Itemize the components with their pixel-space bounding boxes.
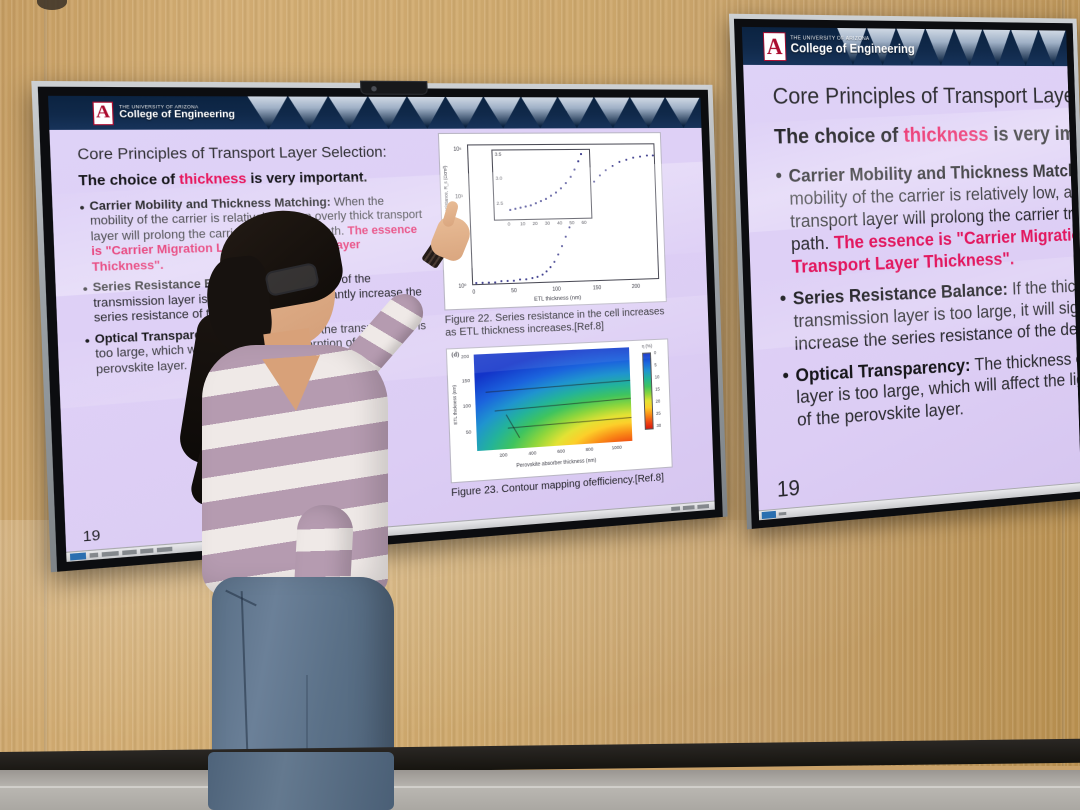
slide-subtitle: The choice of thickness is very importan… [78, 169, 422, 189]
bullet-text: Series Resistance Balance: If the thickn… [792, 271, 1080, 355]
subtitle-highlight: thickness [903, 124, 989, 147]
subtitle-suffix: is very important. [988, 122, 1080, 145]
figure-23-colorbar-tick: 5 [654, 362, 656, 367]
figure-23-colorbar-tick: 0 [654, 350, 656, 355]
bullet-item: • Optical Transparency: The thickness of… [782, 342, 1080, 433]
start-button[interactable] [762, 511, 776, 518]
figure-23-colorbar-tick: 25 [656, 411, 661, 416]
figure-23-colorbar-tick: 20 [656, 399, 661, 404]
start-button[interactable] [70, 553, 86, 561]
classroom-scene: A THE UNIVERSITY OF ARIZONA College of E… [0, 0, 1080, 810]
inset-xtick: 0 [508, 221, 511, 226]
taskbar-icon[interactable] [140, 549, 153, 554]
floor [0, 770, 1080, 810]
taskbar-icon[interactable] [157, 547, 173, 552]
taskbar-icon[interactable] [102, 551, 119, 556]
taskbar-icon[interactable] [779, 512, 787, 516]
slide-subtitle: The choice of thickness is very importan… [774, 122, 1080, 149]
figure-22-xtick: 150 [593, 285, 602, 291]
figure-22-ytick: 10⁵ [453, 147, 461, 153]
subtitle-prefix: The choice of [78, 172, 179, 189]
ua-banner: A THE UNIVERSITY OF ARIZONA College of E… [742, 27, 1067, 66]
ua-logo: A THE UNIVERSITY OF ARIZONA College of E… [92, 101, 235, 125]
display-right-screen[interactable]: A THE UNIVERSITY OF ARIZONA College of E… [742, 27, 1080, 520]
figure-22-xtick: 100 [552, 286, 561, 292]
bullet-dot-icon: • [79, 200, 87, 276]
ua-wordmark: THE UNIVERSITY OF ARIZONA College of Eng… [119, 105, 235, 121]
inset-xtick: 50 [569, 220, 574, 225]
clock[interactable] [697, 504, 709, 508]
taskbar-icon[interactable] [122, 550, 137, 555]
bullet-item: • Series Resistance Balance: If the thic… [779, 271, 1080, 356]
inset-ytick: 3.0 [495, 176, 502, 181]
figure-23-colorbar [642, 352, 654, 430]
bullet-dot-icon: • [84, 333, 91, 379]
slide-number-left: 19 [82, 527, 100, 545]
display-right-bezel: A THE UNIVERSITY OF ARIZONA College of E… [734, 19, 1080, 529]
presenter-jeans-hem [208, 752, 394, 810]
inset-xtick: 40 [557, 220, 562, 225]
figure-23-xtick: 1000 [612, 445, 622, 451]
subtitle-prefix: The choice of [774, 124, 904, 148]
figure-22-inset-plot: 3.5 3.0 2.5 [491, 149, 592, 221]
figure-23-xtick: 600 [557, 448, 565, 454]
tray-icon[interactable] [683, 506, 695, 510]
webcam-icon [360, 81, 428, 95]
slide-title: Core Principles of Transport Layer Selec… [772, 83, 1080, 110]
ua-wordmark: THE UNIVERSITY OF ARIZONA College of Eng… [790, 37, 915, 57]
subtitle-highlight: thickness [179, 171, 247, 187]
figure-22-ytick: 10³ [455, 194, 463, 200]
inset-xtick: 30 [545, 221, 550, 226]
inset-xtick: 60 [581, 220, 586, 225]
slide-right-text-column: Core Principles of Transport Layer Selec… [772, 83, 1080, 433]
ua-logo: A THE UNIVERSITY OF ARIZONA College of E… [763, 32, 915, 62]
inset-xtick: 20 [532, 221, 537, 226]
bullet-dot-icon: • [775, 165, 786, 279]
figure-23-colorbar-tick: 15 [655, 386, 660, 391]
figure-22-xtick: 50 [511, 288, 517, 294]
inset-ytick: 3.5 [495, 152, 502, 157]
bullet-dot-icon: • [779, 288, 788, 356]
figure-23-colorbar-label: η (%) [642, 343, 653, 349]
slide-title: Core Principles of Transport Layer Selec… [77, 144, 422, 163]
ua-university-line: THE UNIVERSITY OF ARIZONA [790, 37, 914, 44]
subtitle-suffix: is very important. [246, 170, 368, 187]
bullet-text: Carrier Mobility and Thickness Matching:… [788, 159, 1080, 279]
figure-23-xtick: 800 [586, 446, 594, 452]
chevron-pattern-icon [247, 96, 701, 129]
slide-number-right: 19 [777, 475, 801, 503]
bullet-text: Optical Transparency: The thickness of t… [795, 342, 1080, 433]
inset-xtick: 10 [520, 221, 525, 226]
floor-seam [0, 786, 1080, 788]
arizona-a-icon: A [763, 32, 787, 61]
presenter [190, 205, 500, 810]
figure-23-colorbar-tick: 30 [656, 423, 661, 428]
tray-icon[interactable] [671, 507, 680, 511]
taskbar-icon[interactable] [90, 553, 99, 557]
figure-22-xtick: 200 [632, 284, 640, 290]
ua-college-line: College of Engineering [790, 42, 915, 56]
bullet-note: The essence is "Carrier Migration Length… [791, 222, 1080, 277]
ua-banner: A THE UNIVERSITY OF ARIZONA College of E… [48, 96, 701, 130]
bullet-dot-icon: • [82, 281, 89, 327]
bullet-dot-icon: • [782, 365, 791, 433]
display-right[interactable]: A THE UNIVERSITY OF ARIZONA College of E… [729, 14, 1080, 530]
figure-23-xtick: 400 [528, 450, 536, 456]
ua-university-line: THE UNIVERSITY OF ARIZONA [119, 105, 235, 110]
figure-23-xtick: 200 [499, 452, 507, 458]
figure-23-colorbar-tick: 10 [655, 374, 660, 379]
bullet-item: • Carrier Mobility and Thickness Matchin… [775, 159, 1080, 280]
arizona-a-icon: A [92, 101, 114, 125]
ua-college-line: College of Engineering [119, 110, 235, 121]
slide-right: A THE UNIVERSITY OF ARIZONA College of E… [742, 27, 1080, 520]
